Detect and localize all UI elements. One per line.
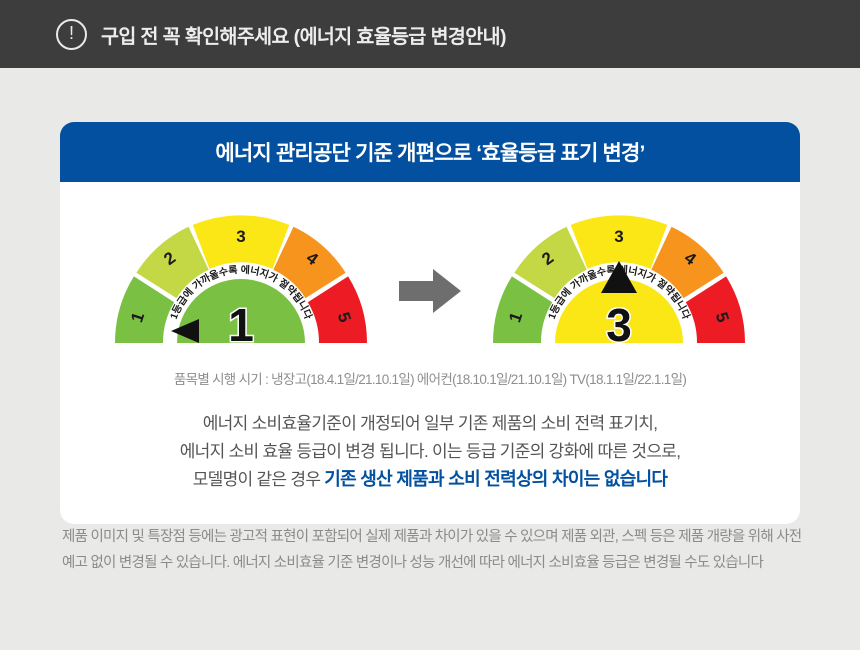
right-arrow-icon	[399, 269, 461, 313]
before-gauge: 1 2 3 4 5 1등급에 가까울수록 에너지가 절약됩니다 1	[111, 213, 371, 349]
notice-line-3: 모델명이 같은 경우 기존 생산 제품과 소비 전력상의 차이는 없습니다	[60, 465, 800, 494]
notice-line-1: 에너지 소비효율기준이 개정되어 일부 기존 제품의 소비 전력 표기치,	[60, 410, 800, 438]
before-grade-number: 1	[228, 299, 254, 349]
after-gauge: 1 2 3 4 5 1등급에 가까울수록 에너지가 절약됩니다 3	[489, 213, 749, 349]
disclaimer-text: 제품 이미지 및 특장점 등에는 광고적 표현이 포함되어 실제 제품과 차이가…	[62, 525, 802, 577]
exclamation-circle-icon: !	[56, 19, 87, 50]
notice-line-3-highlight: 기존 생산 제품과 소비 전력상의 차이는 없습니다	[324, 469, 667, 489]
schedule-caption: 품목별 시행 시기 : 냉장고(18.4.1일/21.10.1일) 에어컨(18…	[60, 368, 800, 388]
page-title: 구입 전 꼭 확인해주세요 (에너지 효율등급 변경안내)	[101, 20, 506, 49]
energy-grade-notice-card: 에너지 관리공단 기준 개편으로 ‘효율등급 표기 변경’	[60, 122, 800, 524]
after-grade-number: 3	[606, 299, 632, 349]
notice-line-2: 에너지 소비 효율 등급이 변경 됩니다. 이는 등급 기준의 강화에 따른 것…	[60, 438, 800, 466]
notice-paragraph: 에너지 소비효율기준이 개정되어 일부 기존 제품의 소비 전력 표기치, 에너…	[60, 410, 800, 494]
card-body: 1 2 3 4 5 1등급에 가까울수록 에너지가 절약됩니다 1	[60, 182, 800, 524]
page-header-bar: ! 구입 전 꼭 확인해주세요 (에너지 효율등급 변경안내)	[0, 0, 860, 68]
svg-text:3: 3	[614, 227, 623, 246]
gauge-comparison: 1 2 3 4 5 1등급에 가까울수록 에너지가 절약됩니다 1	[60, 208, 800, 354]
card-header: 에너지 관리공단 기준 개편으로 ‘효율등급 표기 변경’	[60, 122, 800, 182]
notice-line-3-plain: 모델명이 같은 경우	[193, 470, 325, 489]
exclamation-mark: !	[69, 24, 74, 42]
svg-text:3: 3	[236, 227, 245, 246]
card-header-title: 에너지 관리공단 기준 개편으로 ‘효율등급 표기 변경’	[215, 137, 644, 167]
